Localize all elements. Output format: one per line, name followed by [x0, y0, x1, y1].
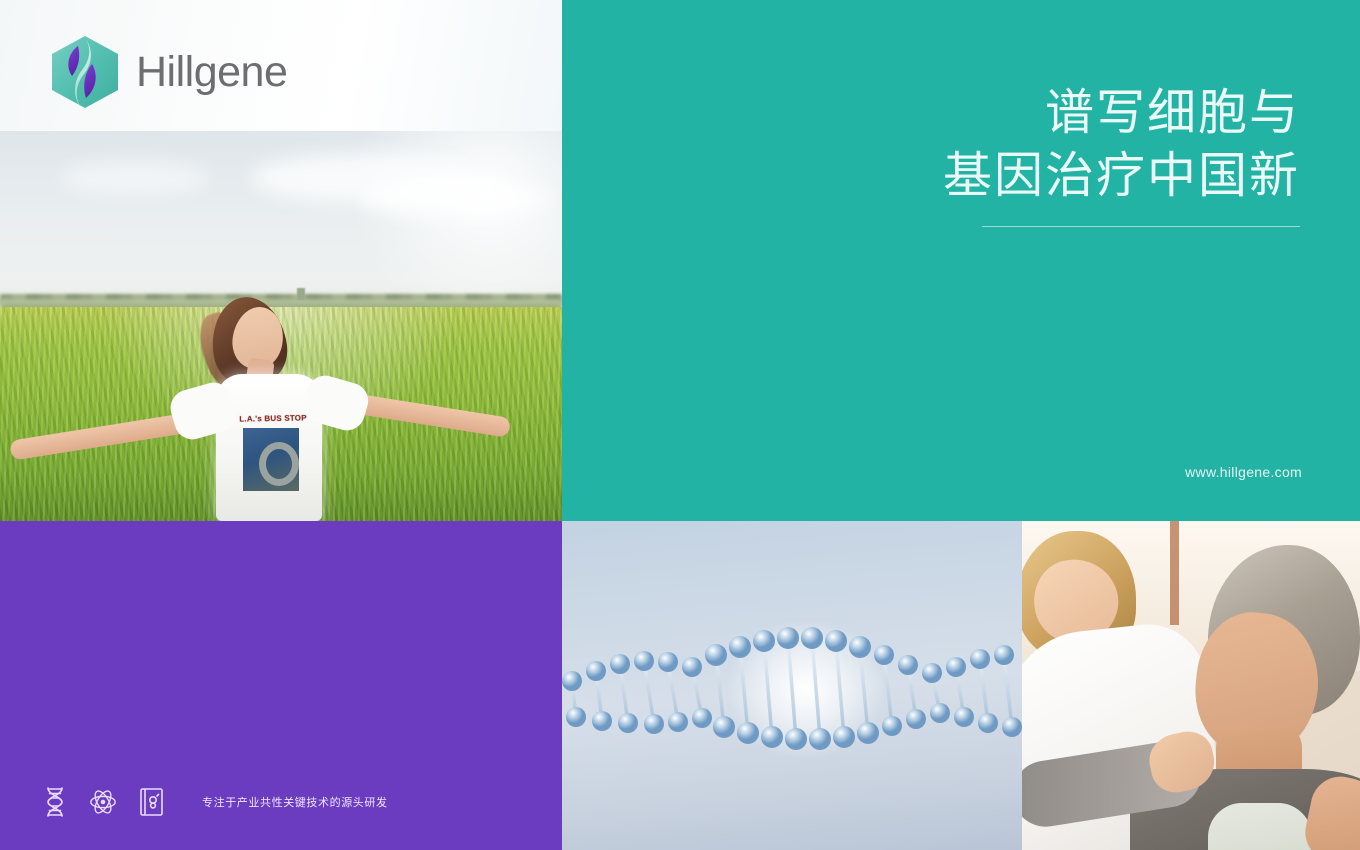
woman-figure: L.A.'s BUS STOP [0, 131, 562, 521]
brand-logo-row[interactable]: Hillgene [48, 34, 287, 110]
dna-helix-icon [40, 786, 70, 818]
brochure-page: Hillgene L.A.'s BUS S [0, 0, 1360, 850]
hero-field-photo: L.A.'s BUS STOP [0, 131, 562, 521]
tshirt-slogan: L.A.'s BUS STOP [238, 413, 308, 423]
headline-line-2: 基因治疗中国新 [943, 145, 1300, 208]
hillgene-hexagon-leaf-logo [48, 34, 122, 110]
headline-line-1: 谱写细胞与 [943, 82, 1300, 145]
dna-photo-panel [562, 521, 1022, 850]
dna-double-helix-graphic [562, 521, 1022, 850]
headline-block: 谱写细胞与 基因治疗中国新 [943, 82, 1300, 207]
top-left-quadrant: Hillgene L.A.'s BUS S [0, 0, 562, 521]
purple-panel-tagline: 专注于产业共性关键技术的源头研发 [202, 794, 388, 810]
brand-wordmark: Hillgene [136, 51, 287, 94]
logo-header-band: Hillgene [0, 0, 562, 131]
purple-tagline-panel: 专注于产业共性关键技术的源头研发 [0, 521, 562, 850]
window-frame [1170, 521, 1179, 625]
teal-headline-panel: 谱写细胞与 基因治疗中国新 www.hillgene.com [562, 0, 1360, 521]
icon-row: 专注于产业共性关键技术的源头研发 [40, 786, 388, 818]
website-url[interactable]: www.hillgene.com [1185, 464, 1302, 480]
care-photo-panel [1022, 521, 1360, 850]
patient-shirt [1208, 803, 1312, 850]
atom-molecule-icon [88, 786, 118, 818]
headline-divider [982, 226, 1300, 227]
tshirt-graphic [243, 428, 299, 491]
book-research-icon [136, 786, 166, 818]
